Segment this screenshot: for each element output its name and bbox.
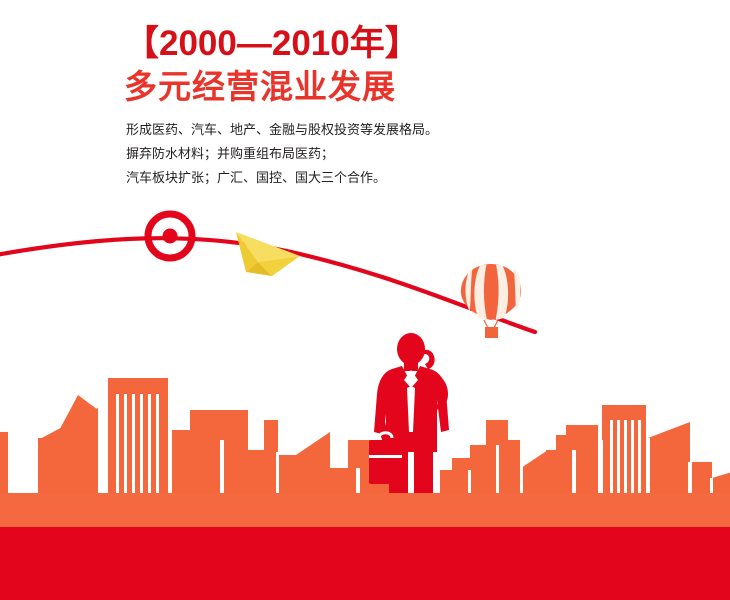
hot-air-balloon bbox=[461, 264, 521, 338]
page-subtitle: 多元经营混业发展 bbox=[124, 66, 644, 108]
body-line-3: 汽车板块扩张；广汇、国控、国大三个合作。 bbox=[126, 166, 646, 190]
paper-plane bbox=[236, 232, 300, 276]
ground-band-orange bbox=[0, 493, 730, 527]
city-skyline bbox=[0, 378, 730, 495]
body-line-2: 摒弃防水材料；并购重组布局医药； bbox=[126, 142, 646, 166]
body-line-1: 形成医药、汽车、地产、金融与股权投资等发展格局。 bbox=[126, 118, 646, 142]
body-copy: 形成医药、汽车、地产、金融与股权投资等发展格局。 摒弃防水材料；并购重组布局医药… bbox=[126, 118, 646, 190]
target-bullseye bbox=[148, 214, 192, 258]
page-title: 【2000—2010年】 bbox=[124, 22, 644, 66]
title-block: 【2000—2010年】 多元经营混业发展 bbox=[124, 22, 644, 108]
slide-canvas: 【2000—2010年】 多元经营混业发展 形成医药、汽车、地产、金融与股权投资… bbox=[0, 0, 730, 600]
ground-band-red bbox=[0, 527, 730, 600]
